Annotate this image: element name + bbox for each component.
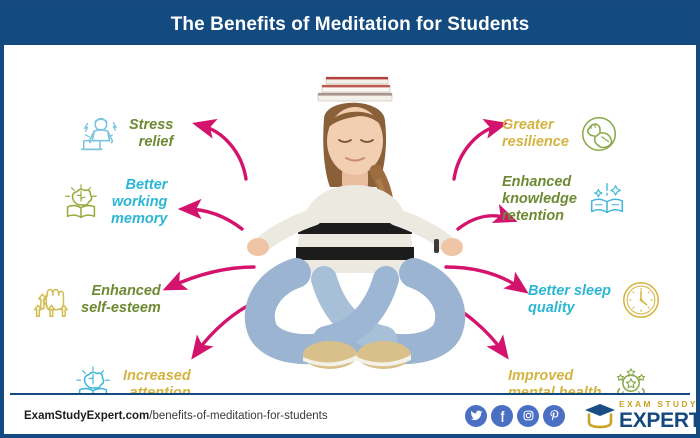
pinterest-icon[interactable]	[543, 405, 565, 427]
footer-url[interactable]: ExamStudyExpert.com/benefits-of-meditati…	[24, 410, 328, 422]
graduation-cap-icon	[583, 401, 617, 431]
benefit-greater-resilience: Greater resilience	[502, 111, 622, 157]
brain-book-icon	[58, 179, 104, 225]
benefit-stress-relief: Stress relief	[76, 111, 173, 157]
social-links	[465, 405, 565, 427]
meditating-student-photo	[238, 67, 470, 389]
benefit-enhanced-knowledge-retention: Enhanced knowledge retention	[502, 174, 630, 225]
benefit-enhanced-self-esteem: Enhanced self-esteem	[28, 277, 161, 323]
raised-fist-arrows-icon	[28, 277, 74, 323]
benefit-better-sleep-quality: Better sleep quality	[528, 277, 664, 323]
benefit-label: Better sleep quality	[528, 283, 611, 317]
benefit-label: Better working memory	[111, 177, 167, 228]
brand-bottom-text: EXPERT	[619, 410, 700, 431]
brand-top-text: EXAM STUDY	[619, 400, 700, 409]
strong-arm-shield-icon	[576, 111, 622, 157]
clock-icon	[618, 277, 664, 323]
page-title: The Benefits of Meditation for Students	[171, 14, 530, 36]
benefit-label: Enhanced self-esteem	[81, 283, 161, 317]
footer-bar: ExamStudyExpert.com/benefits-of-meditati…	[10, 393, 690, 436]
facebook-icon[interactable]	[491, 405, 513, 427]
sparkling-open-book-icon	[584, 176, 630, 222]
footer-url-domain: ExamStudyExpert.com	[24, 410, 149, 422]
infographic-root: The Benefits of Meditation for Students	[0, 0, 700, 438]
stressed-student-icon	[76, 111, 122, 157]
benefit-label: Enhanced knowledge retention	[502, 174, 577, 225]
instagram-icon[interactable]	[517, 405, 539, 427]
twitter-icon[interactable]	[465, 405, 487, 427]
benefit-label: Stress relief	[129, 117, 173, 151]
brand-logo[interactable]: EXAM STUDY EXPERT	[583, 398, 691, 434]
footer-url-path: /benefits-of-meditation-for-students	[149, 410, 327, 422]
benefit-better-working-memory: Better working memory	[58, 177, 167, 228]
header-bar: The Benefits of Meditation for Students	[4, 4, 696, 45]
infographic-canvas: Stress relief Better working memory	[10, 49, 690, 389]
arrow-to-working-memory	[186, 209, 242, 229]
benefit-label: Greater resilience	[502, 117, 569, 151]
